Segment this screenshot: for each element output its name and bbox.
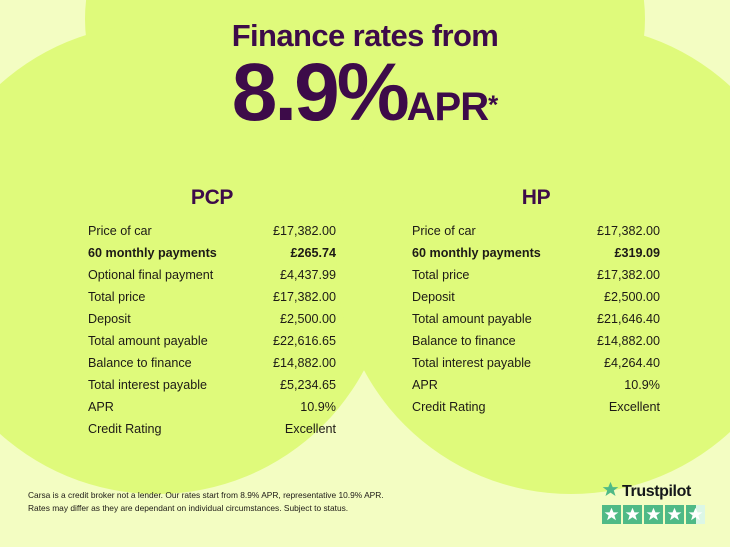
- finance-table-hp: HP Price of car £17,382.00 60 monthly pa…: [412, 186, 660, 422]
- row-label: Credit Rating: [412, 400, 486, 414]
- finance-table-pcp: PCP Price of car £17,382.00 60 monthly p…: [88, 186, 336, 444]
- row-value: £17,382.00: [273, 224, 336, 238]
- rate-unit: APR: [407, 85, 488, 129]
- row-label: Deposit: [412, 290, 455, 304]
- trustpilot-rating-stars: [602, 505, 710, 524]
- row-label: Balance to finance: [412, 334, 516, 348]
- table-row: Deposit £2,500.00: [412, 290, 660, 312]
- row-label: 60 monthly payments: [412, 246, 541, 260]
- table-row: Optional final payment £4,437.99: [88, 268, 336, 290]
- table-row: 60 monthly payments £319.09: [412, 246, 660, 268]
- row-value: £21,646.40: [597, 312, 660, 326]
- row-value: £17,382.00: [597, 268, 660, 282]
- row-label: Total amount payable: [88, 334, 208, 348]
- table-row: APR 10.9%: [412, 378, 660, 400]
- table-row: Total price £17,382.00: [412, 268, 660, 290]
- row-label: Total amount payable: [412, 312, 532, 326]
- rate-value: 8.9%: [232, 47, 407, 138]
- table-row: Balance to finance £14,882.00: [412, 334, 660, 356]
- star-icon: [665, 505, 684, 524]
- trustpilot-name: Trustpilot: [622, 484, 691, 500]
- row-label: 60 monthly payments: [88, 246, 217, 260]
- star-icon: [602, 481, 619, 503]
- row-label: Balance to finance: [88, 356, 192, 370]
- row-label: Total price: [412, 268, 469, 282]
- row-value: 10.9%: [624, 378, 660, 392]
- table-row: Total interest payable £4,264.40: [412, 356, 660, 378]
- row-label: Total interest payable: [88, 378, 207, 392]
- disclaimer-text: Carsa is a credit broker not a lender. O…: [28, 489, 458, 515]
- row-value: £2,500.00: [604, 290, 660, 304]
- star-icon: [644, 505, 663, 524]
- row-label: Optional final payment: [88, 268, 213, 282]
- table-row: Credit Rating Excellent: [412, 400, 660, 422]
- trustpilot-badge[interactable]: Trustpilot: [602, 482, 710, 524]
- disclaimer-line-2: Rates may differ as they are dependant o…: [28, 502, 458, 515]
- row-value: £4,264.40: [604, 356, 660, 370]
- table-row: Total amount payable £22,616.65: [88, 334, 336, 356]
- table-row: Credit Rating Excellent: [88, 422, 336, 444]
- row-value: Excellent: [285, 422, 336, 436]
- row-value: £319.09: [614, 246, 660, 260]
- row-label: APR: [412, 378, 438, 392]
- row-label: Total interest payable: [412, 356, 531, 370]
- star-icon: [623, 505, 642, 524]
- row-value: £22,616.65: [273, 334, 336, 348]
- row-value: Excellent: [609, 400, 660, 414]
- row-value: £4,437.99: [280, 268, 336, 282]
- table-row: Price of car £17,382.00: [88, 224, 336, 246]
- table-row: Total price £17,382.00: [88, 290, 336, 312]
- trustpilot-header: Trustpilot: [602, 482, 710, 502]
- row-label: APR: [88, 400, 114, 414]
- row-value: 10.9%: [300, 400, 336, 414]
- promo-canvas: Finance rates from 8.9%APR* PCP Price of…: [0, 0, 730, 547]
- table-row: Balance to finance £14,882.00: [88, 356, 336, 378]
- disclaimer-line-1: Carsa is a credit broker not a lender. O…: [28, 489, 458, 502]
- row-value: £5,234.65: [280, 378, 336, 392]
- row-value: £265.74: [290, 246, 336, 260]
- table-row: Deposit £2,500.00: [88, 312, 336, 334]
- star-icon: [602, 505, 621, 524]
- rate-asterisk: *: [488, 90, 498, 120]
- row-label: Price of car: [88, 224, 152, 238]
- promo-content: Finance rates from 8.9%APR* PCP Price of…: [0, 0, 730, 547]
- row-value: £14,882.00: [273, 356, 336, 370]
- table-row: 60 monthly payments £265.74: [88, 246, 336, 268]
- star-half-icon: [686, 505, 705, 524]
- table-title-hp: HP: [412, 186, 660, 210]
- rate-headline: 8.9%APR*: [0, 52, 730, 134]
- row-value: £17,382.00: [597, 224, 660, 238]
- row-label: Price of car: [412, 224, 476, 238]
- table-row: Total amount payable £21,646.40: [412, 312, 660, 334]
- row-value: £14,882.00: [597, 334, 660, 348]
- table-row: APR 10.9%: [88, 400, 336, 422]
- table-row: Total interest payable £5,234.65: [88, 378, 336, 400]
- table-title-pcp: PCP: [88, 186, 336, 210]
- table-row: Price of car £17,382.00: [412, 224, 660, 246]
- row-label: Credit Rating: [88, 422, 162, 436]
- row-value: £2,500.00: [280, 312, 336, 326]
- row-label: Total price: [88, 290, 145, 304]
- row-value: £17,382.00: [273, 290, 336, 304]
- row-label: Deposit: [88, 312, 131, 326]
